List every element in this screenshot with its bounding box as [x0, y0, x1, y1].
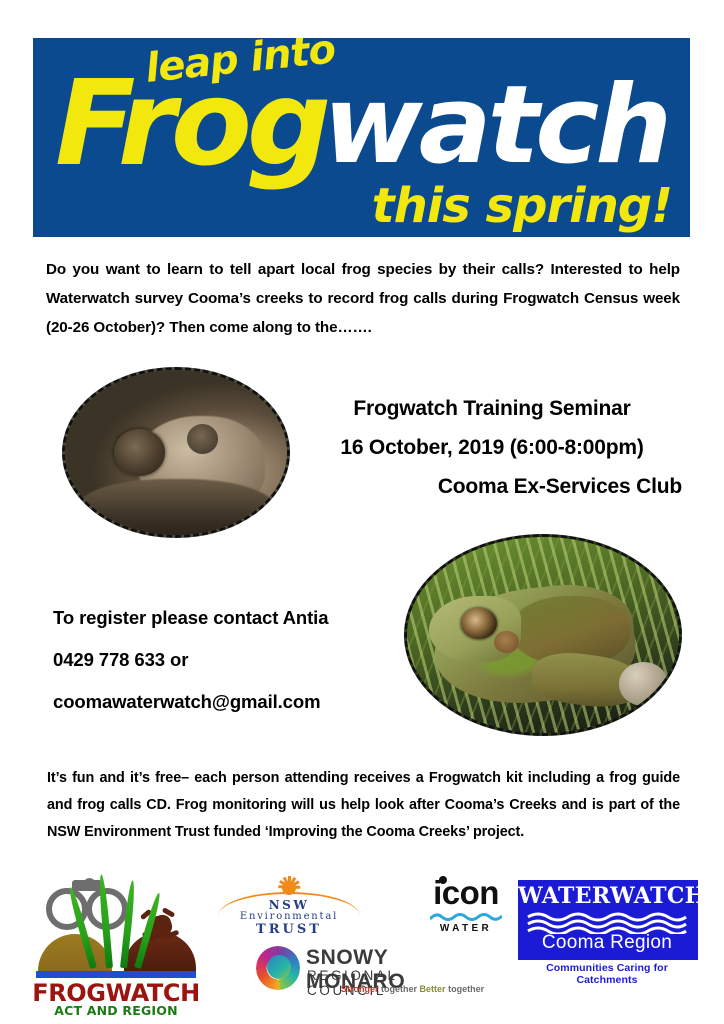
icon-water-subtitle: WATER [412, 923, 520, 934]
tagline-word-4: together [448, 984, 484, 994]
contact-email-line[interactable]: coomawaterwatch@gmail.com [53, 681, 383, 723]
banner-this-spring-text: this spring! [372, 181, 672, 231]
waterwatch-waves-icon [526, 912, 688, 934]
bell-frog-eye-shape [461, 608, 496, 639]
nsw-trust-line-3: TRUST [218, 922, 360, 937]
icon-water-logo: icon WATER [412, 874, 520, 936]
waterwatch-tagline: Communities Caring for Catchments [518, 962, 696, 986]
bell-frog-tympanum-shape [494, 631, 518, 653]
bell-frog-photo [404, 534, 682, 736]
icon-water-dot [439, 876, 447, 884]
tagline-word-3: Better [420, 984, 446, 994]
frogwatch-banner: leap into Frog watch this spring! [33, 38, 690, 237]
photo-rock-shape [619, 662, 668, 705]
closing-paragraph: It’s fun and it’s free– each person atte… [47, 765, 680, 846]
nsw-trust-line-1: NSW [218, 898, 360, 912]
frogwatch-logo-subtitle: ACT AND REGION [28, 1003, 204, 1018]
frogwatch-act-logo: FROGWATCH ACT AND REGION [28, 872, 200, 1012]
water-band-shape [36, 971, 196, 978]
contact-person-line: To register please contact Antia [53, 597, 383, 639]
waterwatch-title: WATERWATCH [518, 883, 696, 909]
grass-icon [86, 872, 162, 968]
intro-paragraph: Do you want to learn to tell apart local… [46, 255, 680, 342]
frog-body-shape [76, 479, 276, 538]
waterwatch-region: Cooma Region [518, 932, 696, 954]
seminar-title: Frogwatch Training Seminar [300, 389, 684, 428]
council-swirl-inner [267, 955, 291, 979]
tagline-word-1: Stronger [341, 984, 379, 994]
seminar-datetime: 16 October, 2019 (6:00-8:00pm) [300, 428, 684, 467]
grass-blade [98, 874, 113, 968]
grass-blade [120, 880, 136, 968]
banner-frog-text: Frog [55, 64, 326, 182]
snowy-monaro-tagline: Stronger together Better together [341, 984, 484, 994]
frog-eye-shape [114, 429, 165, 475]
tagline-word-2: together [381, 984, 417, 994]
nsw-trust-line-2: Environmental [218, 911, 360, 922]
logo-strip: FROGWATCH ACT AND REGION NSW Environment… [0, 866, 724, 1016]
tree-frog-photo [62, 367, 290, 538]
nsw-environmental-trust-logo: NSW Environmental TRUST [218, 876, 360, 934]
flyer-page: leap into Frog watch this spring! Do you… [0, 0, 724, 1024]
icon-water-wordmark: icon [412, 874, 520, 912]
banner-watch-text: watch [323, 72, 668, 180]
contact-block: To register please contact Antia 0429 77… [53, 597, 383, 723]
water-wave-icon [430, 912, 502, 922]
waterwatch-cooma-logo: WATERWATCH Cooma Region Communities Cari… [518, 880, 696, 984]
contact-phone-line: 0429 778 633 or [53, 639, 383, 681]
grass-blade [134, 892, 162, 969]
snowy-monaro-council-logo: SNOWY MONARO REGIONAL COUNCIL Stronger t… [256, 942, 456, 1000]
seminar-details: Frogwatch Training Seminar 16 October, 2… [300, 389, 684, 506]
seminar-venue: Cooma Ex-Services Club [300, 467, 684, 506]
